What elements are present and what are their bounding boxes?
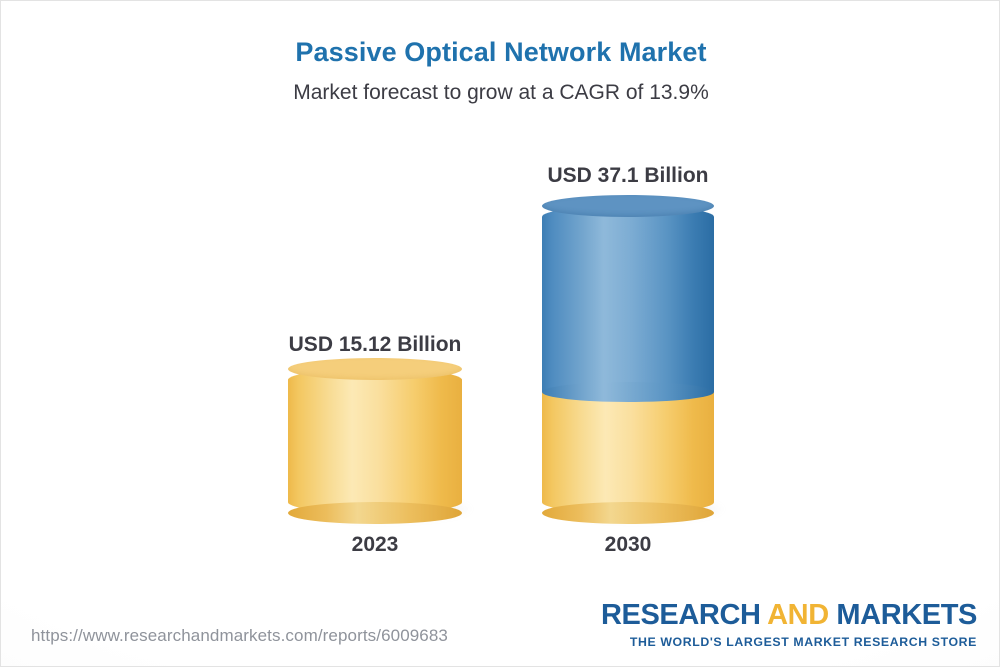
cylinder-2023 xyxy=(288,369,462,513)
cylinder-segment-growth xyxy=(542,206,714,392)
cylinder-body xyxy=(288,369,462,513)
bar-value-label-2030: USD 37.1 Billion xyxy=(468,164,788,188)
cylinder-bottom-edge xyxy=(288,502,462,524)
bar-category-label-2030: 2030 xyxy=(468,533,788,557)
logo-tagline: THE WORLD'S LARGEST MARKET RESEARCH STOR… xyxy=(601,636,977,648)
report-url[interactable]: https://www.researchandmarkets.com/repor… xyxy=(31,626,448,646)
cylinder-2030 xyxy=(542,206,714,513)
cylinder-body xyxy=(542,206,714,513)
cylinder-segment-base xyxy=(542,392,714,513)
cylinder-top-cap xyxy=(288,358,462,380)
cylinder-bottom-edge xyxy=(542,502,714,524)
logo-word-markets: MARKETS xyxy=(829,599,977,631)
logo-word-research: RESEARCH xyxy=(601,599,767,631)
research-and-markets-logo: RESEARCH AND MARKETS THE WORLD'S LARGEST… xyxy=(601,601,977,648)
bar-value-label-2023: USD 15.12 Billion xyxy=(215,333,535,357)
cylinder-segment-divider xyxy=(542,382,714,402)
logo-word-and: AND xyxy=(767,599,829,631)
chart-plot-area: USD 15.12 Billion 2023 USD 37.1 Billion xyxy=(1,1,1000,667)
logo-wordmark: RESEARCH AND MARKETS xyxy=(601,601,977,630)
cylinder-top-cap xyxy=(542,195,714,217)
cylinder-segment-base xyxy=(288,369,462,513)
chart-card: Passive Optical Network Market Market fo… xyxy=(0,0,1000,667)
